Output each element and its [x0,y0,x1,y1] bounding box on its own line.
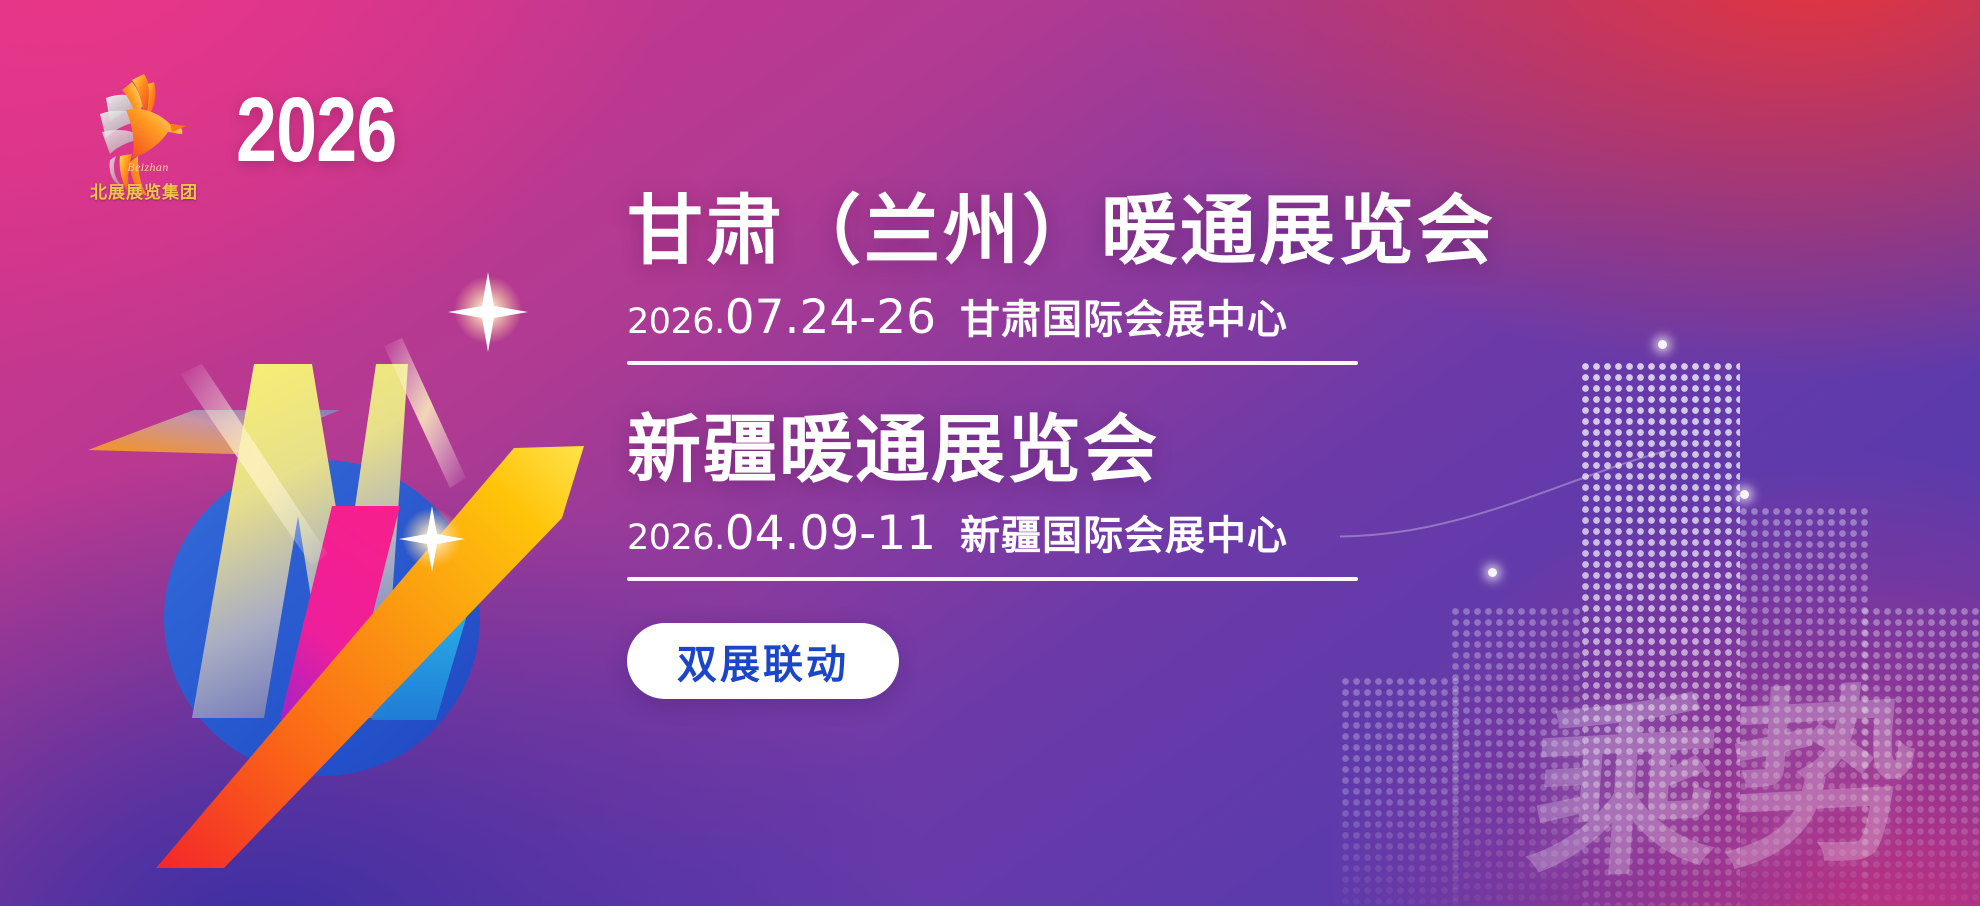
building-light-2 [1740,490,1749,499]
building-light-1 [1658,340,1667,349]
exhibition-banner: 乘势 [0,0,1980,906]
event-title-secondary: 新疆暖通展览会 [627,411,1627,489]
event-title-primary: 甘肃（兰州）暖通展览会 [627,192,1627,273]
divider-secondary [627,577,1358,581]
phoenix-bird-icon: Beizhan 北展展览集团 [86,62,202,212]
building-1 [1340,676,1460,906]
event-daterange-primary: 07.24-26 [725,290,936,345]
logo-company-name: 北展展览集团 [88,178,200,203]
emblem-sparkle-1 [448,272,528,352]
event-venue-secondary: 新疆国际会展中心 [960,503,1288,561]
event-date-secondary: 2026.04.09-11 [627,506,936,561]
year-text: 2026 [236,84,397,176]
event-subline-primary: 2026.07.24-26 甘肃国际会展中心 [627,287,1627,345]
event-subline-secondary: 2026.04.09-11 新疆国际会展中心 [627,503,1627,561]
dual-expo-badge[interactable]: 双展联动 [627,623,899,699]
event-year-secondary: 2026. [627,518,725,558]
event-info-column: 甘肃（兰州）暖通展览会 2026.07.24-26 甘肃国际会展中心 新疆暖通展… [627,192,1627,699]
event-year-primary: 2026. [627,302,725,342]
section-spacer [627,365,1627,411]
logo-script-text: Beizhan [96,160,200,175]
abstract-arrow-emblem [84,268,604,868]
event-daterange-secondary: 04.09-11 [725,506,936,561]
brand-logo: Beizhan 北展展览集团 2026 [86,62,437,212]
event-date-primary: 2026.07.24-26 [627,290,936,345]
event-venue-primary: 甘肃国际会展中心 [960,287,1288,345]
divider-primary [627,361,1358,365]
calligraphy-watermark: 乘势 [1523,687,1930,888]
